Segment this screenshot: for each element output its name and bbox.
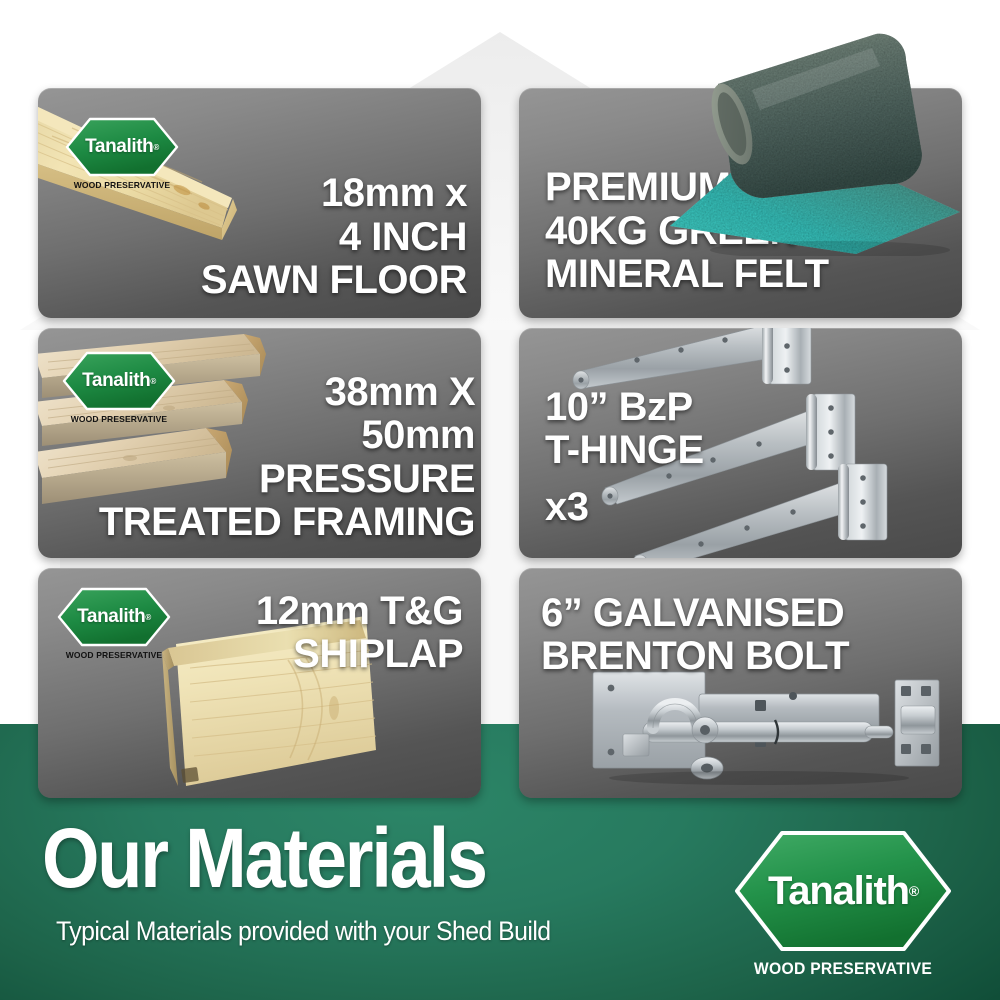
page-title: Our Materials (42, 816, 486, 900)
badge-tagline: WOOD PRESERVATIVE (64, 180, 180, 190)
tanalith-badge: Tanalith® WOOD PRESERVATIVE (61, 350, 177, 424)
tanalith-hex-icon: Tanalith® (64, 116, 180, 178)
tanalith-logo: Tanalith® WOOD PRESERVATIVE (732, 828, 954, 979)
card-pressure-treated-framing[interactable]: Tanalith® WOOD PRESERVATIVE 38mm X 50mm … (38, 328, 481, 558)
card-tg-shiplap[interactable]: Tanalith® WOOD PRESERVATIVE 12mm T&G SHI… (38, 568, 481, 798)
card-label-sawn-floor: 18mm x 4 INCH SAWN FLOOR (201, 172, 467, 302)
card-sawn-floor[interactable]: Tanalith® WOOD PRESERVATIVE 18mm x 4 INC… (38, 88, 481, 318)
tanalith-hex-icon: Tanalith® (61, 350, 177, 412)
badge-name: Tanalith® (64, 116, 180, 178)
page-subtitle: Typical Materials provided with your She… (56, 916, 551, 947)
badge-name: Tanalith® (61, 350, 177, 412)
card-t-hinge[interactable]: 10” BzP T-HINGE x3 (519, 328, 962, 558)
card-mineral-felt[interactable]: PREMIUM 40KG GREEN MINERAL FELT (519, 88, 962, 318)
badge-tagline: WOOD PRESERVATIVE (61, 414, 177, 424)
materials-card-grid: Tanalith® WOOD PRESERVATIVE 18mm x 4 INC… (38, 88, 962, 798)
card-label-shiplap: 12mm T&G SHIPLAP (256, 590, 463, 676)
card-label-brenton-bolt: 6” GALVANISED BRENTON BOLT (541, 592, 849, 678)
logo-name: Tanalith® (732, 828, 954, 954)
card-label-t-hinge: 10” BzP T-HINGE x3 (545, 386, 704, 530)
card-brenton-bolt[interactable]: 6” GALVANISED BRENTON BOLT (519, 568, 962, 798)
tanalith-hex-icon: Tanalith® (56, 586, 172, 648)
tanalith-badge: Tanalith® WOOD PRESERVATIVE (56, 586, 172, 660)
mineral-felt-roll-icon (660, 26, 990, 256)
badge-name: Tanalith® (56, 586, 172, 648)
badge-tagline: WOOD PRESERVATIVE (56, 650, 172, 660)
tanalith-badge: Tanalith® WOOD PRESERVATIVE (64, 116, 180, 190)
logo-tagline: WOOD PRESERVATIVE (738, 960, 949, 979)
tanalith-hex-logo-icon: Tanalith® (732, 828, 954, 954)
